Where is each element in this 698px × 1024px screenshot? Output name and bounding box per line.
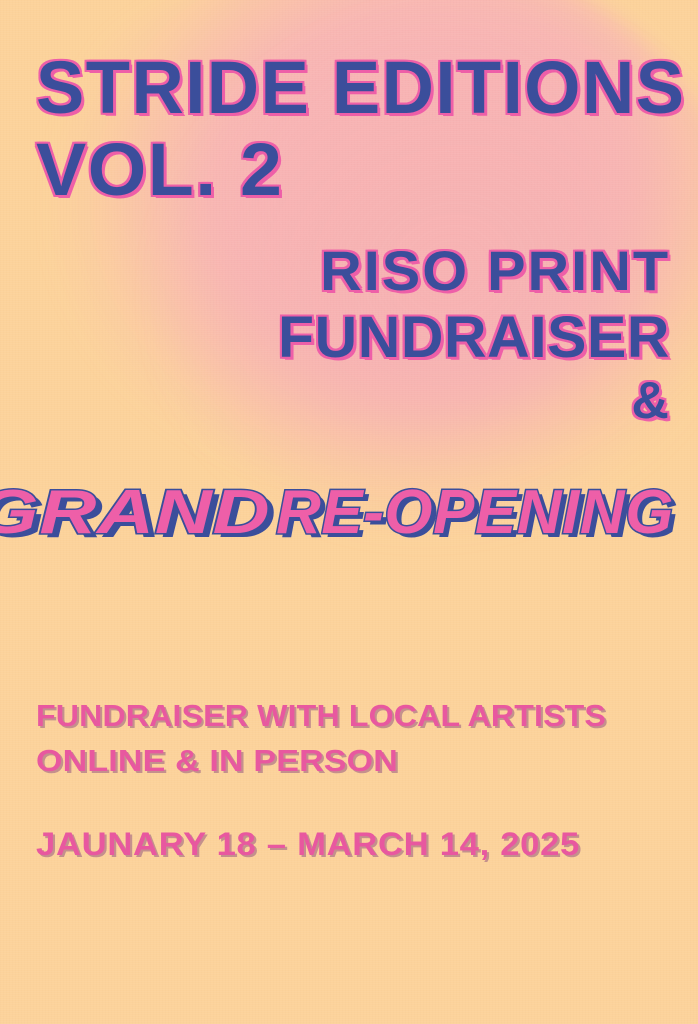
event-info-block: FUNDRAISER WITH LOCAL ARTISTS ONLINE & I… [36, 700, 676, 776]
event-date-range: JAUNARY 18 – MARCH 14, 2025 [36, 828, 580, 860]
heading-grand: GRAND [0, 482, 271, 544]
heading-re-opening: RE-OPENING [276, 482, 674, 544]
event-date-block: JAUNARY 18 – MARCH 14, 2025 [36, 828, 676, 860]
poster-canvas: STRIDE EDITIONS VOL. 2 RISO PRINT FUNDRA… [0, 0, 698, 1024]
poster-content: STRIDE EDITIONS VOL. 2 RISO PRINT FUNDRA… [0, 0, 698, 1024]
title-line-primary: STRIDE EDITIONS [36, 54, 685, 122]
title-line-volume: VOL. 2 [36, 136, 283, 204]
heading-riso-print: RISO PRINT [320, 243, 670, 299]
info-line-artists: FUNDRAISER WITH LOCAL ARTISTS [36, 700, 606, 731]
event-heading-block: RISO PRINT FUNDRAISER & [30, 243, 670, 427]
info-line-format: ONLINE & IN PERSON [36, 745, 398, 776]
poster-title-block: STRIDE EDITIONS VOL. 2 [36, 54, 676, 204]
heading-ampersand: & [30, 375, 670, 427]
heading-fundraiser: FUNDRAISER [278, 309, 670, 367]
reopening-heading-block: GRAND RE-OPENING [14, 466, 674, 544]
